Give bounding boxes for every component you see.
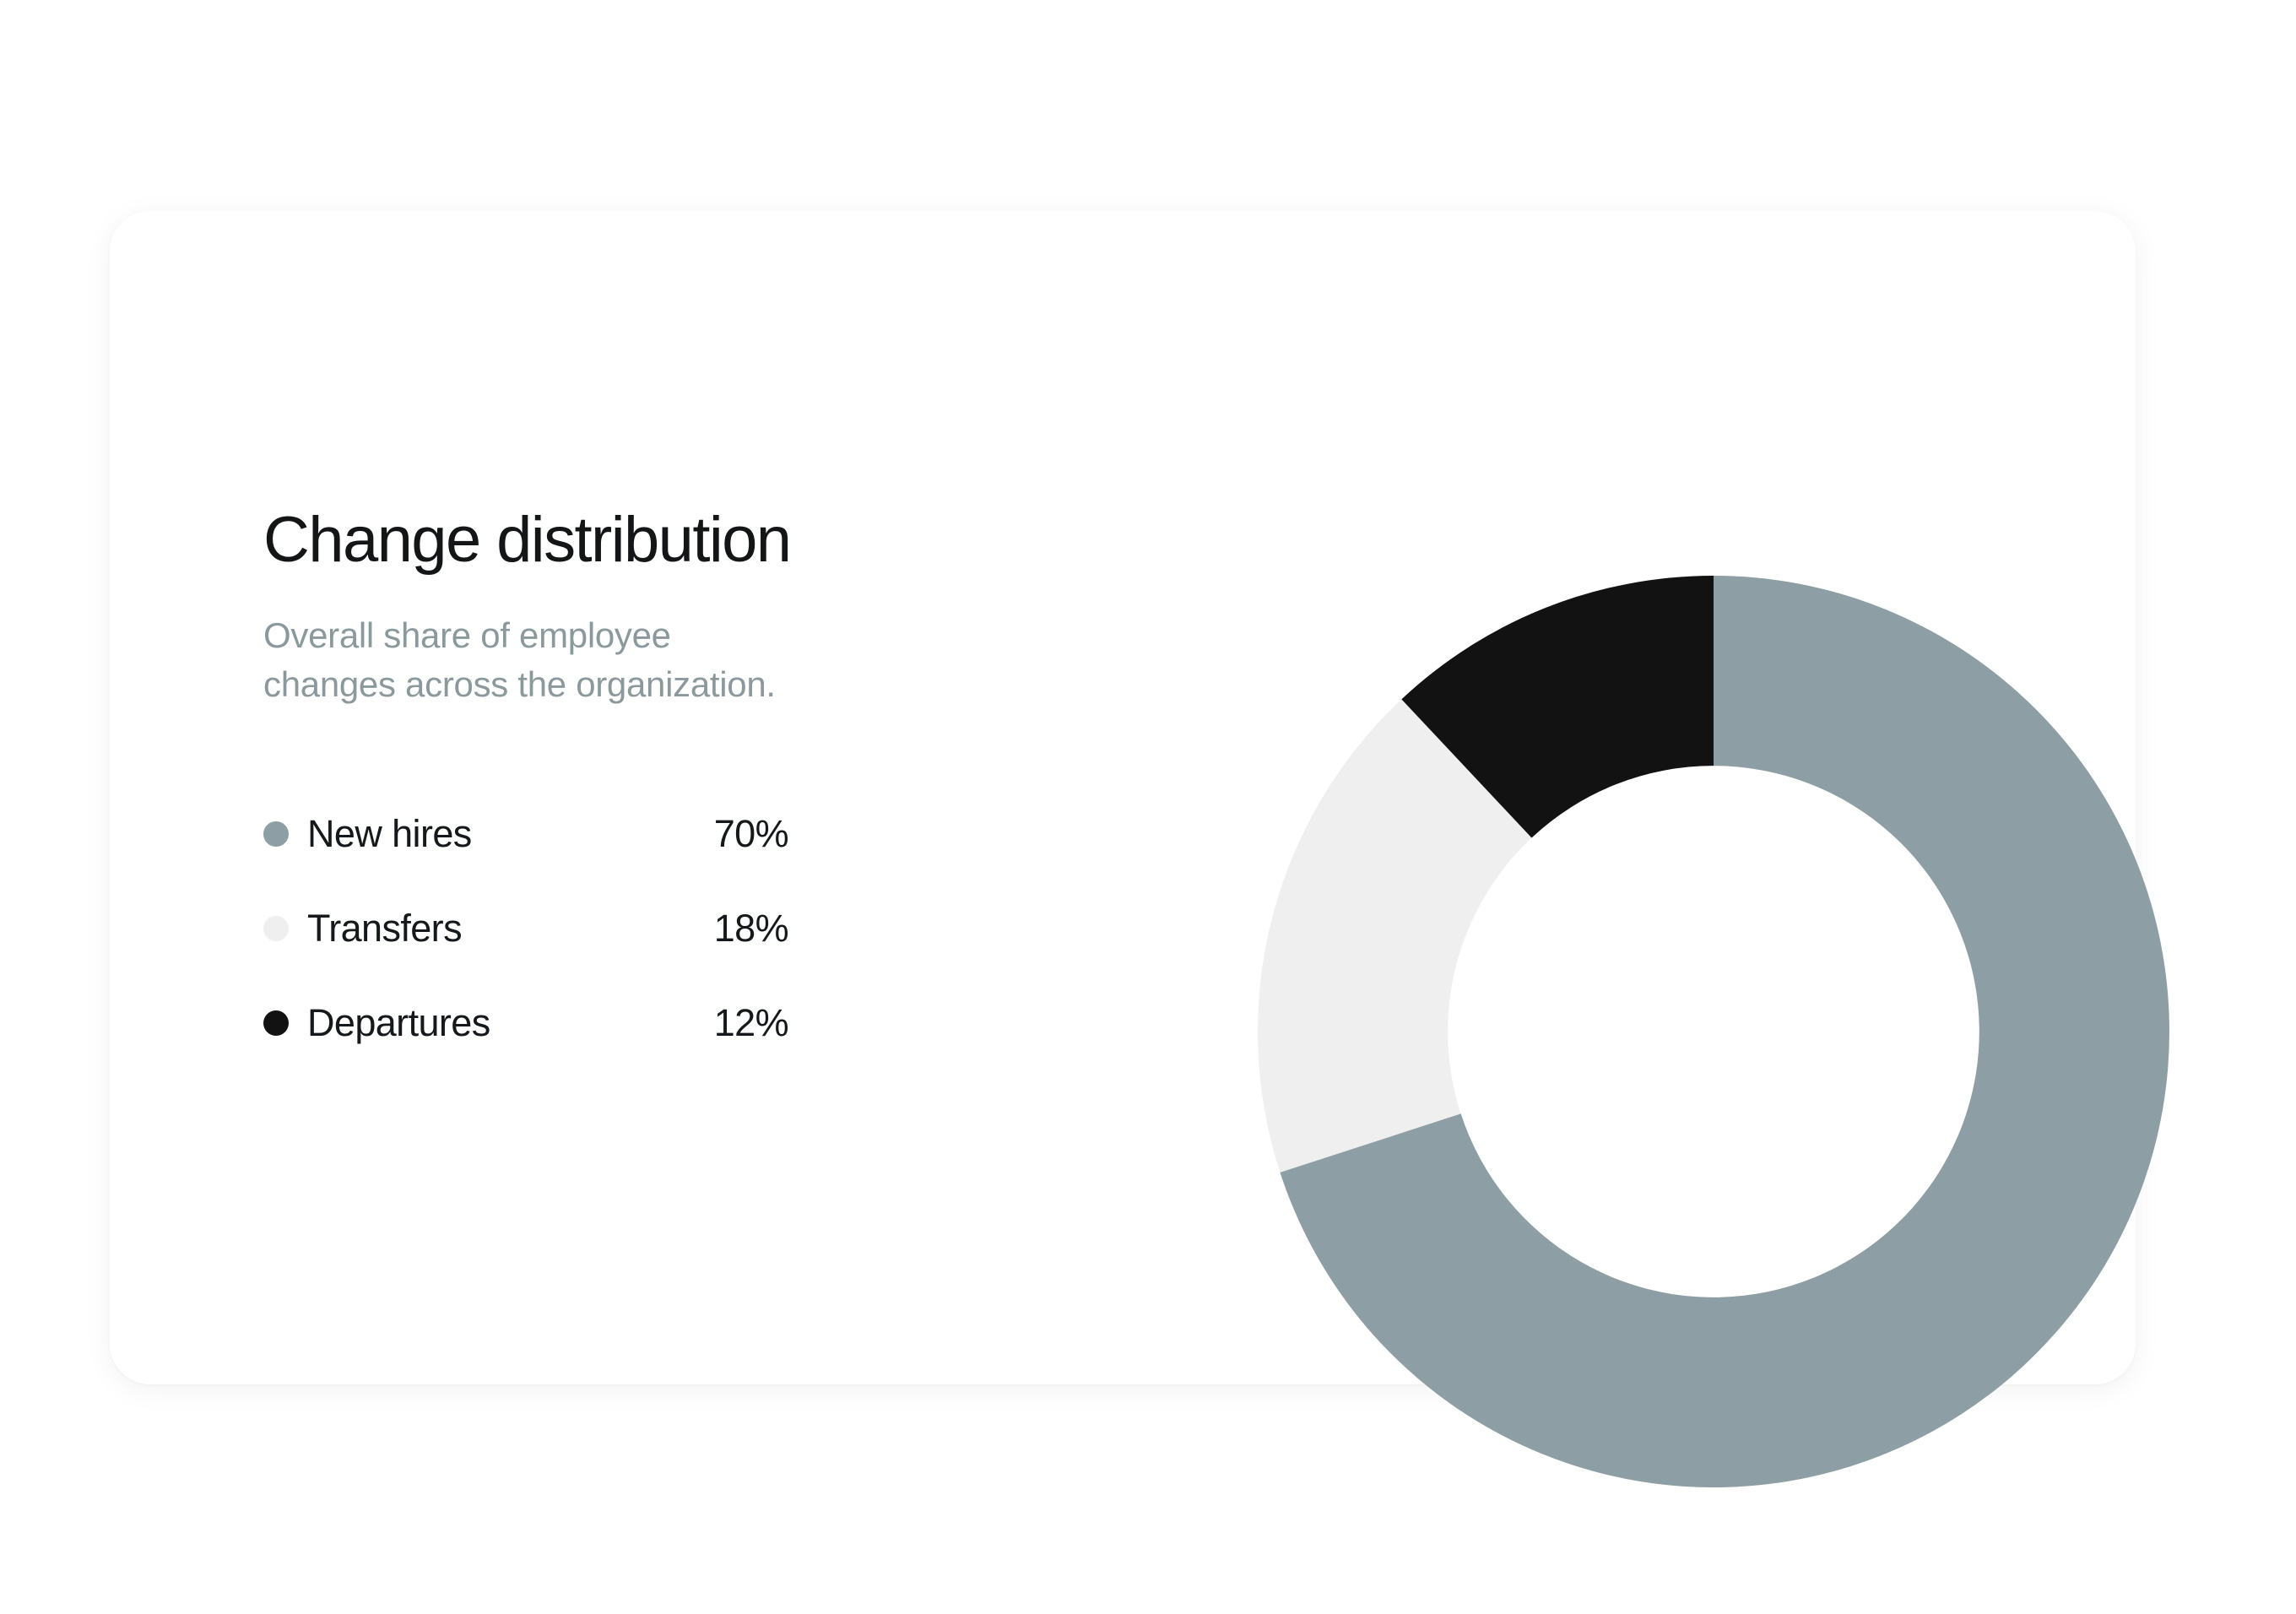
page-root: Change distribution Overall share of emp… <box>0 0 2296 1614</box>
legend-label-transfers: Transfers <box>307 907 462 951</box>
legend-value-new-hires: 70% <box>714 812 788 856</box>
legend-item-departures[interactable]: Departures 12% <box>263 976 788 1070</box>
legend-item-new-hires[interactable]: New hires 70% <box>263 787 788 881</box>
card-subtitle: Overall share of employee changes across… <box>263 611 787 709</box>
legend-dot-new-hires-icon <box>263 821 289 847</box>
legend-label-new-hires: New hires <box>307 812 472 856</box>
legend-dot-departures-icon <box>263 1010 289 1036</box>
card-info-column: Change distribution Overall share of emp… <box>263 506 1023 1070</box>
change-distribution-card: Change distribution Overall share of emp… <box>110 211 2136 1384</box>
page-title: Change distribution <box>263 506 1023 574</box>
donut-slice-group <box>1258 576 2169 1487</box>
chart-legend: New hires 70% Transfers 18% Departures 1… <box>263 787 788 1070</box>
legend-item-transfers[interactable]: Transfers 18% <box>263 881 788 976</box>
legend-value-transfers: 18% <box>714 907 788 951</box>
donut-chart-svg <box>1258 576 2169 1487</box>
legend-dot-transfers-icon <box>263 916 289 941</box>
legend-label-departures: Departures <box>307 1001 490 1045</box>
donut-chart <box>1258 576 2169 1487</box>
legend-value-departures: 12% <box>714 1001 788 1045</box>
